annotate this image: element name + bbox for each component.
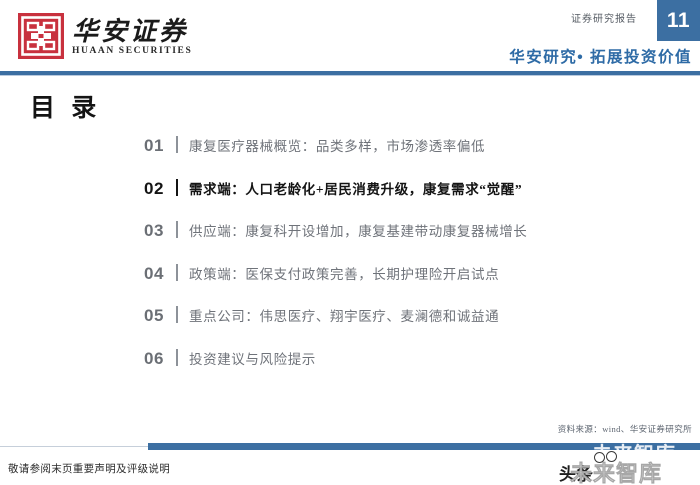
face-mouth — [593, 461, 619, 474]
watermark-brand: 头条 — [559, 460, 593, 485]
toc-item-05[interactable]: 05 重点公司：伟思医疗、翔宇医疗、麦澜德和诚益通 — [144, 304, 574, 347]
page-title: 目 录 — [30, 88, 101, 124]
toc-divider — [176, 306, 178, 323]
logo-chinese-name: 华安证券 — [72, 18, 192, 45]
toc-item-03[interactable]: 03 供应端：康复科开设增加，康复基建带动康复器械增长 — [144, 219, 574, 262]
logo-wordmark: 华安证券 HUAAN SECURITIES — [72, 16, 192, 56]
toc-divider — [176, 221, 178, 238]
toc-label: 康复医疗器械概览：品类多样，市场渗透率偏低 — [189, 135, 485, 155]
toc-divider — [176, 349, 178, 366]
toc-number: 03 — [144, 221, 174, 241]
face-eye-right — [606, 451, 617, 462]
toc-number: 01 — [144, 136, 174, 156]
source-note: 资料来源：wind、华安证券研究所 — [558, 423, 692, 435]
toc-item-01[interactable]: 01 康复医疗器械概览：品类多样，市场渗透率偏低 — [144, 134, 574, 177]
toc-divider — [176, 179, 178, 196]
toc-divider — [176, 264, 178, 281]
toc-label: 供应端：康复科开设增加，康复基建带动康复器械增长 — [189, 220, 527, 240]
toc-item-04[interactable]: 04 政策端：医保支付政策完善，长期护理险开启试点 — [144, 262, 574, 305]
slide-page: 华安证券 HUAAN SECURITIES 证券研究报告 11 华安研究• 拓展… — [0, 0, 700, 485]
toc-number: 05 — [144, 306, 174, 326]
toc-number: 02 — [144, 179, 174, 199]
footer-accent-bar — [148, 443, 700, 450]
toc-label: 需求端：人口老龄化+居民消费升级，康复需求“觉醒” — [189, 178, 522, 198]
report-type-label: 证券研究报告 — [571, 10, 637, 25]
huaan-logo-icon — [18, 13, 64, 59]
face-eye-left — [594, 452, 605, 463]
logo-english-name: HUAAN SECURITIES — [72, 46, 192, 56]
page-header: 华安证券 HUAAN SECURITIES 证券研究报告 11 华安研究• 拓展… — [0, 0, 700, 76]
table-of-contents: 01 康复医疗器械概览：品类多样，市场渗透率偏低 02 需求端：人口老龄化+居民… — [144, 134, 574, 389]
watermark-text-front: 未来智库 — [570, 456, 662, 485]
page-number-badge: 11 — [657, 0, 700, 41]
toc-label: 投资建议与风险提示 — [189, 348, 316, 368]
header-tagline: 华安研究• 拓展投资价值 — [509, 45, 692, 67]
footer-disclaimer: 敬请参阅末页重要声明及评级说明 — [8, 461, 170, 476]
toc-number: 04 — [144, 264, 174, 284]
toc-number: 06 — [144, 349, 174, 369]
toc-label: 重点公司：伟思医疗、翔宇医疗、麦澜德和诚益通 — [189, 305, 499, 325]
toc-item-06[interactable]: 06 投资建议与风险提示 — [144, 347, 574, 390]
company-logo: 华安证券 HUAAN SECURITIES — [18, 13, 192, 59]
toc-divider — [176, 136, 178, 153]
toc-label: 政策端：医保支付政策完善，长期护理险开启试点 — [189, 263, 499, 283]
header-accent-rule-thin — [0, 75, 700, 76]
toutiao-face-icon — [592, 450, 626, 472]
toc-item-02[interactable]: 02 需求端：人口老龄化+居民消费升级，康复需求“觉醒” — [144, 177, 574, 220]
